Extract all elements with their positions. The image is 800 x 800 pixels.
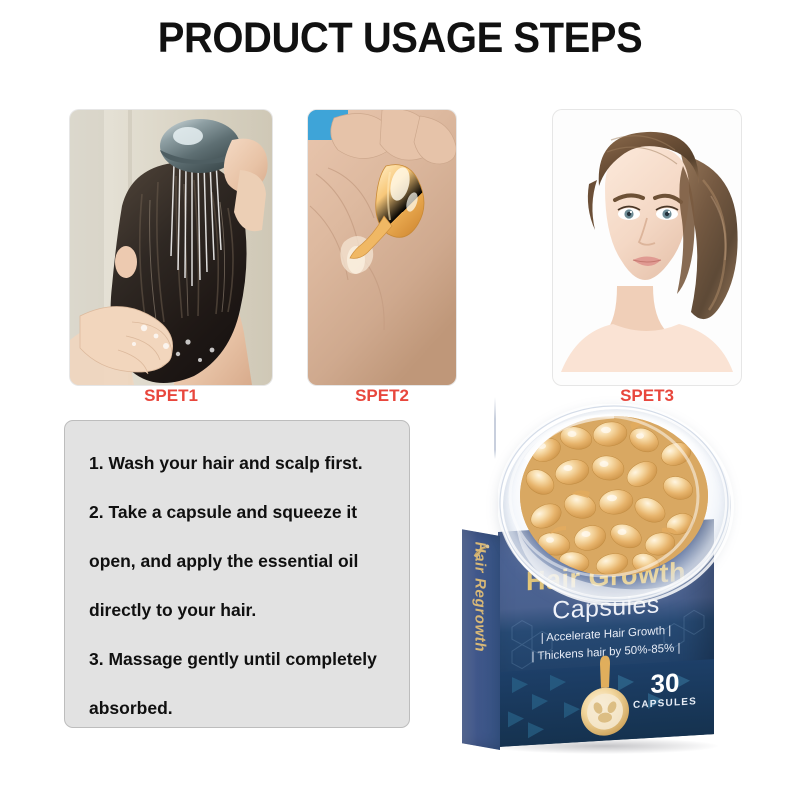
model-portrait-photo-icon — [553, 110, 741, 385]
jar-rim — [500, 406, 734, 606]
step-caption-1: SPET1 — [70, 386, 272, 406]
shower-photo-icon — [70, 110, 272, 385]
instruction-line-5: 3. Massage gently until completely — [89, 647, 387, 671]
step-image-1 — [70, 110, 272, 385]
instruction-line-6: absorbed. — [89, 696, 387, 720]
instruction-line-4: directly to your hair. — [89, 598, 387, 622]
page-title: PRODUCT USAGE STEPS — [28, 14, 772, 63]
instruction-line-1: 1. Wash your hair and scalp first. — [89, 451, 387, 475]
instruction-line-2: 2. Take a capsule and squeeze it — [89, 500, 387, 524]
package-count: 30 — [626, 668, 704, 699]
instruction-line-3: open, and apply the essential oil — [89, 549, 387, 573]
instructions-panel: 1. Wash your hair and scalp first. 2. Ta… — [64, 420, 410, 728]
step-caption-2: SPET2 — [308, 386, 456, 406]
step-image-3 — [553, 110, 741, 385]
step-caption-3: SPET3 — [553, 386, 741, 406]
image-edge-divider — [494, 397, 496, 459]
package-spine-text: Hair Regrowth — [472, 529, 489, 688]
step-image-2 — [308, 110, 456, 385]
package-spine-face: Hair Regrowth — [462, 529, 500, 750]
capsule-jar — [498, 404, 730, 602]
capsule-in-hand-photo-icon — [308, 110, 456, 385]
